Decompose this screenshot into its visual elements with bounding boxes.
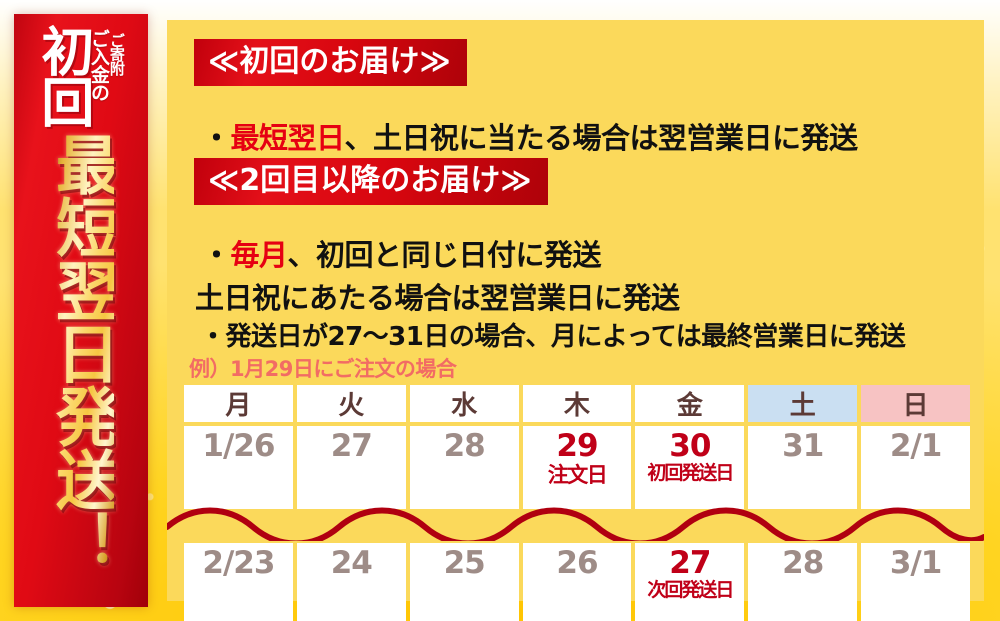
bullet-rest-text-2: 、初回と同じ日付に発送 (288, 238, 602, 272)
calendar-day-number: 2/1 (890, 430, 941, 463)
calendar-cell: 27 (297, 426, 406, 509)
calendar-cell: 26 (523, 543, 632, 621)
calendar-day-number: 24 (331, 547, 372, 580)
example-calendar: 月 火 水 木 金 土 日 1/26 27 28 29 (184, 385, 970, 621)
calendar-day-label: 次回発送日 (647, 581, 732, 601)
first-delivery-bullet: ・最短翌日、土日祝に当たる場合は翌営業日に発送 (202, 115, 858, 157)
subsequent-bullet-monthly: ・毎月、初回と同じ日付に発送 (202, 232, 601, 274)
calendar-cell-next-ship-date: 27 次回発送日 (635, 543, 744, 621)
bullet-highlight-next-day: 最短翌日 (231, 121, 345, 155)
section-header-subsequent-delivery: ≪2回目以降のお届け≫ (194, 158, 548, 205)
calendar-week-2: 2/23 24 25 26 27 次回発送日 28 (184, 543, 970, 621)
example-note: 例）1月29日にご注文の場合 (189, 353, 456, 383)
subsequent-note-month-end: ・発送日が27〜31日の場合、月によっては最終営業日に発送 (200, 316, 905, 353)
bullet-rest-text: 、土日祝に当たる場合は翌営業日に発送 (345, 121, 858, 155)
calendar-day-number: 31 (782, 430, 823, 463)
calendar-cell: 28 (748, 543, 857, 621)
content-panel: ≪初回のお届け≫ ・最短翌日、土日祝に当たる場合は翌営業日に発送 ≪2回目以降の… (167, 20, 984, 601)
calendar-day-number: 26 (556, 547, 597, 580)
weekday-header-sat: 土 (748, 385, 857, 422)
eyebrow-first-time-text: 初回 (38, 24, 88, 126)
calendar-day-number: 27 (331, 430, 372, 463)
calendar-cell-order-date: 29 注文日 (523, 426, 632, 509)
left-banner-eyebrow-group: ご寄附 ご入金の 初回 (14, 26, 148, 130)
promo-banner: ご寄附 ご入金の 初回 最短翌日発送！ ≪初回のお届け≫ ・最短翌日、土日祝に当… (0, 0, 1000, 621)
calendar-day-number: 29 (556, 430, 597, 463)
subsequent-note-holiday: 土日祝にあたる場合は翌営業日に発送 (195, 275, 680, 317)
calendar-day-label: 注文日 (548, 464, 607, 486)
eyebrow-payment-text: ご入金の (89, 29, 108, 101)
calendar-cell: 28 (410, 426, 519, 509)
eyebrow-donation-text: ご寄附 (109, 33, 124, 75)
bullet-highlight-monthly: 毎月 (231, 238, 288, 272)
calendar-cell: 25 (410, 543, 519, 621)
calendar-day-number: 25 (444, 547, 485, 580)
calendar-cell: 3/1 (861, 543, 970, 621)
calendar-weekday-header: 月 火 水 木 金 土 日 (184, 385, 970, 422)
weekday-header-wed: 水 (410, 385, 519, 422)
calendar-day-number: 1/26 (202, 430, 274, 463)
calendar-cell: 2/1 (861, 426, 970, 509)
calendar-day-number: 3/1 (890, 547, 941, 580)
calendar-week-1: 1/26 27 28 29 注文日 30 初回発送日 31 (184, 426, 970, 509)
calendar-cell: 24 (297, 543, 406, 621)
left-banner-headline-wrap: 最短翌日発送！ (14, 132, 148, 599)
weekday-header-fri: 金 (635, 385, 744, 422)
weekday-header-sun: 日 (861, 385, 970, 422)
bullet-marker: ・ (202, 121, 231, 155)
weekday-header-tue: 火 (297, 385, 406, 422)
calendar-cell: 1/26 (184, 426, 293, 509)
bullet-marker-2: ・ (202, 238, 231, 272)
calendar-day-number: 2/23 (202, 547, 274, 580)
weekday-header-thu: 木 (523, 385, 632, 422)
calendar-cell: 2/23 (184, 543, 293, 621)
section-header-first-delivery: ≪初回のお届け≫ (194, 39, 467, 86)
left-red-banner: ご寄附 ご入金の 初回 最短翌日発送！ (14, 14, 148, 607)
calendar-day-label: 初回発送日 (647, 464, 732, 484)
calendar-day-number: 30 (669, 430, 710, 463)
calendar-cell-first-ship-date: 30 初回発送日 (635, 426, 744, 509)
calendar-day-number: 27 (669, 547, 710, 580)
calendar-day-number: 28 (444, 430, 485, 463)
weekday-header-mon: 月 (184, 385, 293, 422)
left-banner-headline: 最短翌日発送！ (48, 132, 114, 573)
calendar-cell: 31 (748, 426, 857, 509)
calendar-day-number: 28 (782, 547, 823, 580)
